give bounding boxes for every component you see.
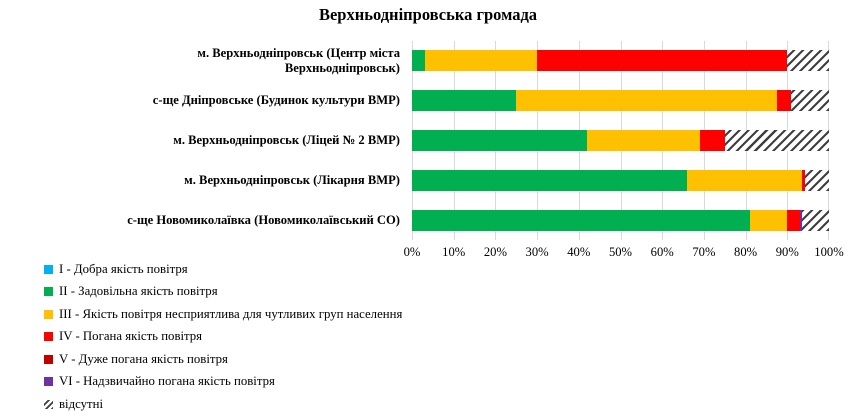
bar-segment-II[interactable] bbox=[412, 170, 687, 191]
legend-item-iii[interactable]: III - Якість повітря несприятлива для чу… bbox=[44, 303, 564, 326]
bar-row[interactable] bbox=[412, 50, 829, 71]
x-tick-label: 70% bbox=[692, 245, 715, 260]
y-axis-label-line: м. Верхньодніпровськ (Лікарня ВМР) bbox=[0, 173, 400, 188]
x-tick-label: 50% bbox=[609, 245, 632, 260]
x-tick-label: 80% bbox=[734, 245, 757, 260]
y-axis-labels: м. Верхньодніпровськ (Центр містаВерхньо… bbox=[0, 41, 408, 240]
bar-segment-III[interactable] bbox=[516, 90, 777, 111]
bar-segment-III[interactable] bbox=[750, 210, 788, 231]
legend-swatch-icon bbox=[44, 310, 53, 319]
legend-swatch-icon bbox=[44, 355, 53, 364]
bar-segment-none[interactable] bbox=[802, 210, 829, 231]
bar-segment-III[interactable] bbox=[587, 130, 700, 151]
x-tick-label: 40% bbox=[567, 245, 590, 260]
bar-row[interactable] bbox=[412, 90, 829, 111]
legend-item-v[interactable]: V - Дуже погана якість повітря bbox=[44, 348, 564, 371]
legend-label: V - Дуже погана якість повітря bbox=[59, 352, 228, 367]
y-axis-label: м. Верхньодніпровськ (Лікарня ВМР) bbox=[0, 173, 400, 188]
x-tick-label: 60% bbox=[651, 245, 674, 260]
bar-rows bbox=[412, 41, 829, 240]
chart-title: Верхньодніпровська громада bbox=[0, 5, 856, 25]
bar-segment-II[interactable] bbox=[412, 210, 750, 231]
bar-segment-IV[interactable] bbox=[777, 90, 792, 111]
y-axis-label: м. Верхньодніпровськ (Ліцей № 2 ВМР) bbox=[0, 133, 400, 148]
bar-segment-none[interactable] bbox=[791, 90, 829, 111]
bar-segment-none[interactable] bbox=[805, 170, 829, 191]
y-axis-label-line: м. Верхньодніпровськ (Центр міста bbox=[0, 46, 400, 61]
plot-area bbox=[412, 41, 829, 240]
bar-segment-II[interactable] bbox=[412, 90, 516, 111]
bar-segment-IV[interactable] bbox=[537, 50, 787, 71]
legend-swatch-icon bbox=[44, 400, 53, 409]
stacked-bar[interactable] bbox=[412, 170, 829, 191]
y-axis-label: с-ще Новомиколаївка (Новомиколаївський С… bbox=[0, 213, 400, 228]
legend-label: II - Задовільна якість повітря bbox=[59, 284, 218, 299]
legend-label: VI - Надзвичайно погана якість повітря bbox=[59, 374, 275, 389]
bar-segment-III[interactable] bbox=[425, 50, 538, 71]
legend-item-vi[interactable]: VI - Надзвичайно погана якість повітря bbox=[44, 371, 564, 394]
legend-item-ii[interactable]: II - Задовільна якість повітря bbox=[44, 281, 564, 304]
legend-swatch-icon bbox=[44, 332, 53, 341]
x-tick-label: 100% bbox=[814, 245, 843, 260]
legend-label: IV - Погана якість повітря bbox=[59, 329, 202, 344]
x-tick-label: 90% bbox=[776, 245, 799, 260]
bar-segment-II[interactable] bbox=[412, 50, 425, 71]
chart-container: Верхньодніпровська громада м. Верхньодні… bbox=[0, 0, 856, 413]
y-axis-label-line: с-ще Новомиколаївка (Новомиколаївський С… bbox=[0, 213, 400, 228]
legend-swatch-icon bbox=[44, 377, 53, 386]
stacked-bar[interactable] bbox=[412, 90, 829, 111]
y-axis-label-line: м. Верхньодніпровськ (Ліцей № 2 ВМР) bbox=[0, 133, 400, 148]
bar-segment-II[interactable] bbox=[412, 130, 587, 151]
y-axis-label-line: Верхньодніпровськ) bbox=[0, 61, 400, 76]
bar-row[interactable] bbox=[412, 170, 829, 191]
bar-segment-none[interactable] bbox=[787, 50, 829, 71]
bar-segment-IV[interactable] bbox=[787, 210, 800, 231]
legend-item-i[interactable]: I - Добра якість повітря bbox=[44, 258, 564, 281]
bar-segment-III[interactable] bbox=[687, 170, 802, 191]
stacked-bar[interactable] bbox=[412, 130, 829, 151]
legend: I - Добра якість повітряII - Задовільна … bbox=[44, 258, 564, 416]
legend-item-iv[interactable]: IV - Погана якість повітря bbox=[44, 326, 564, 349]
legend-label: III - Якість повітря несприятлива для чу… bbox=[59, 307, 402, 322]
legend-swatch-icon bbox=[44, 287, 53, 296]
bar-row[interactable] bbox=[412, 210, 829, 231]
y-axis-label: м. Верхньодніпровськ (Центр містаВерхньо… bbox=[0, 46, 400, 76]
y-axis-label: с-ще Дніпровське (Будинок культури ВМР) bbox=[0, 93, 400, 108]
y-axis-label-line: с-ще Дніпровське (Будинок культури ВМР) bbox=[0, 93, 400, 108]
bar-row[interactable] bbox=[412, 130, 829, 151]
bar-segment-IV[interactable] bbox=[700, 130, 725, 151]
bar-segment-none[interactable] bbox=[725, 130, 829, 151]
stacked-bar[interactable] bbox=[412, 50, 829, 71]
legend-swatch-icon bbox=[44, 265, 53, 274]
legend-label: відсутні bbox=[59, 397, 103, 412]
legend-label: I - Добра якість повітря bbox=[59, 262, 188, 277]
stacked-bar[interactable] bbox=[412, 210, 829, 231]
legend-item-none[interactable]: відсутні bbox=[44, 393, 564, 416]
